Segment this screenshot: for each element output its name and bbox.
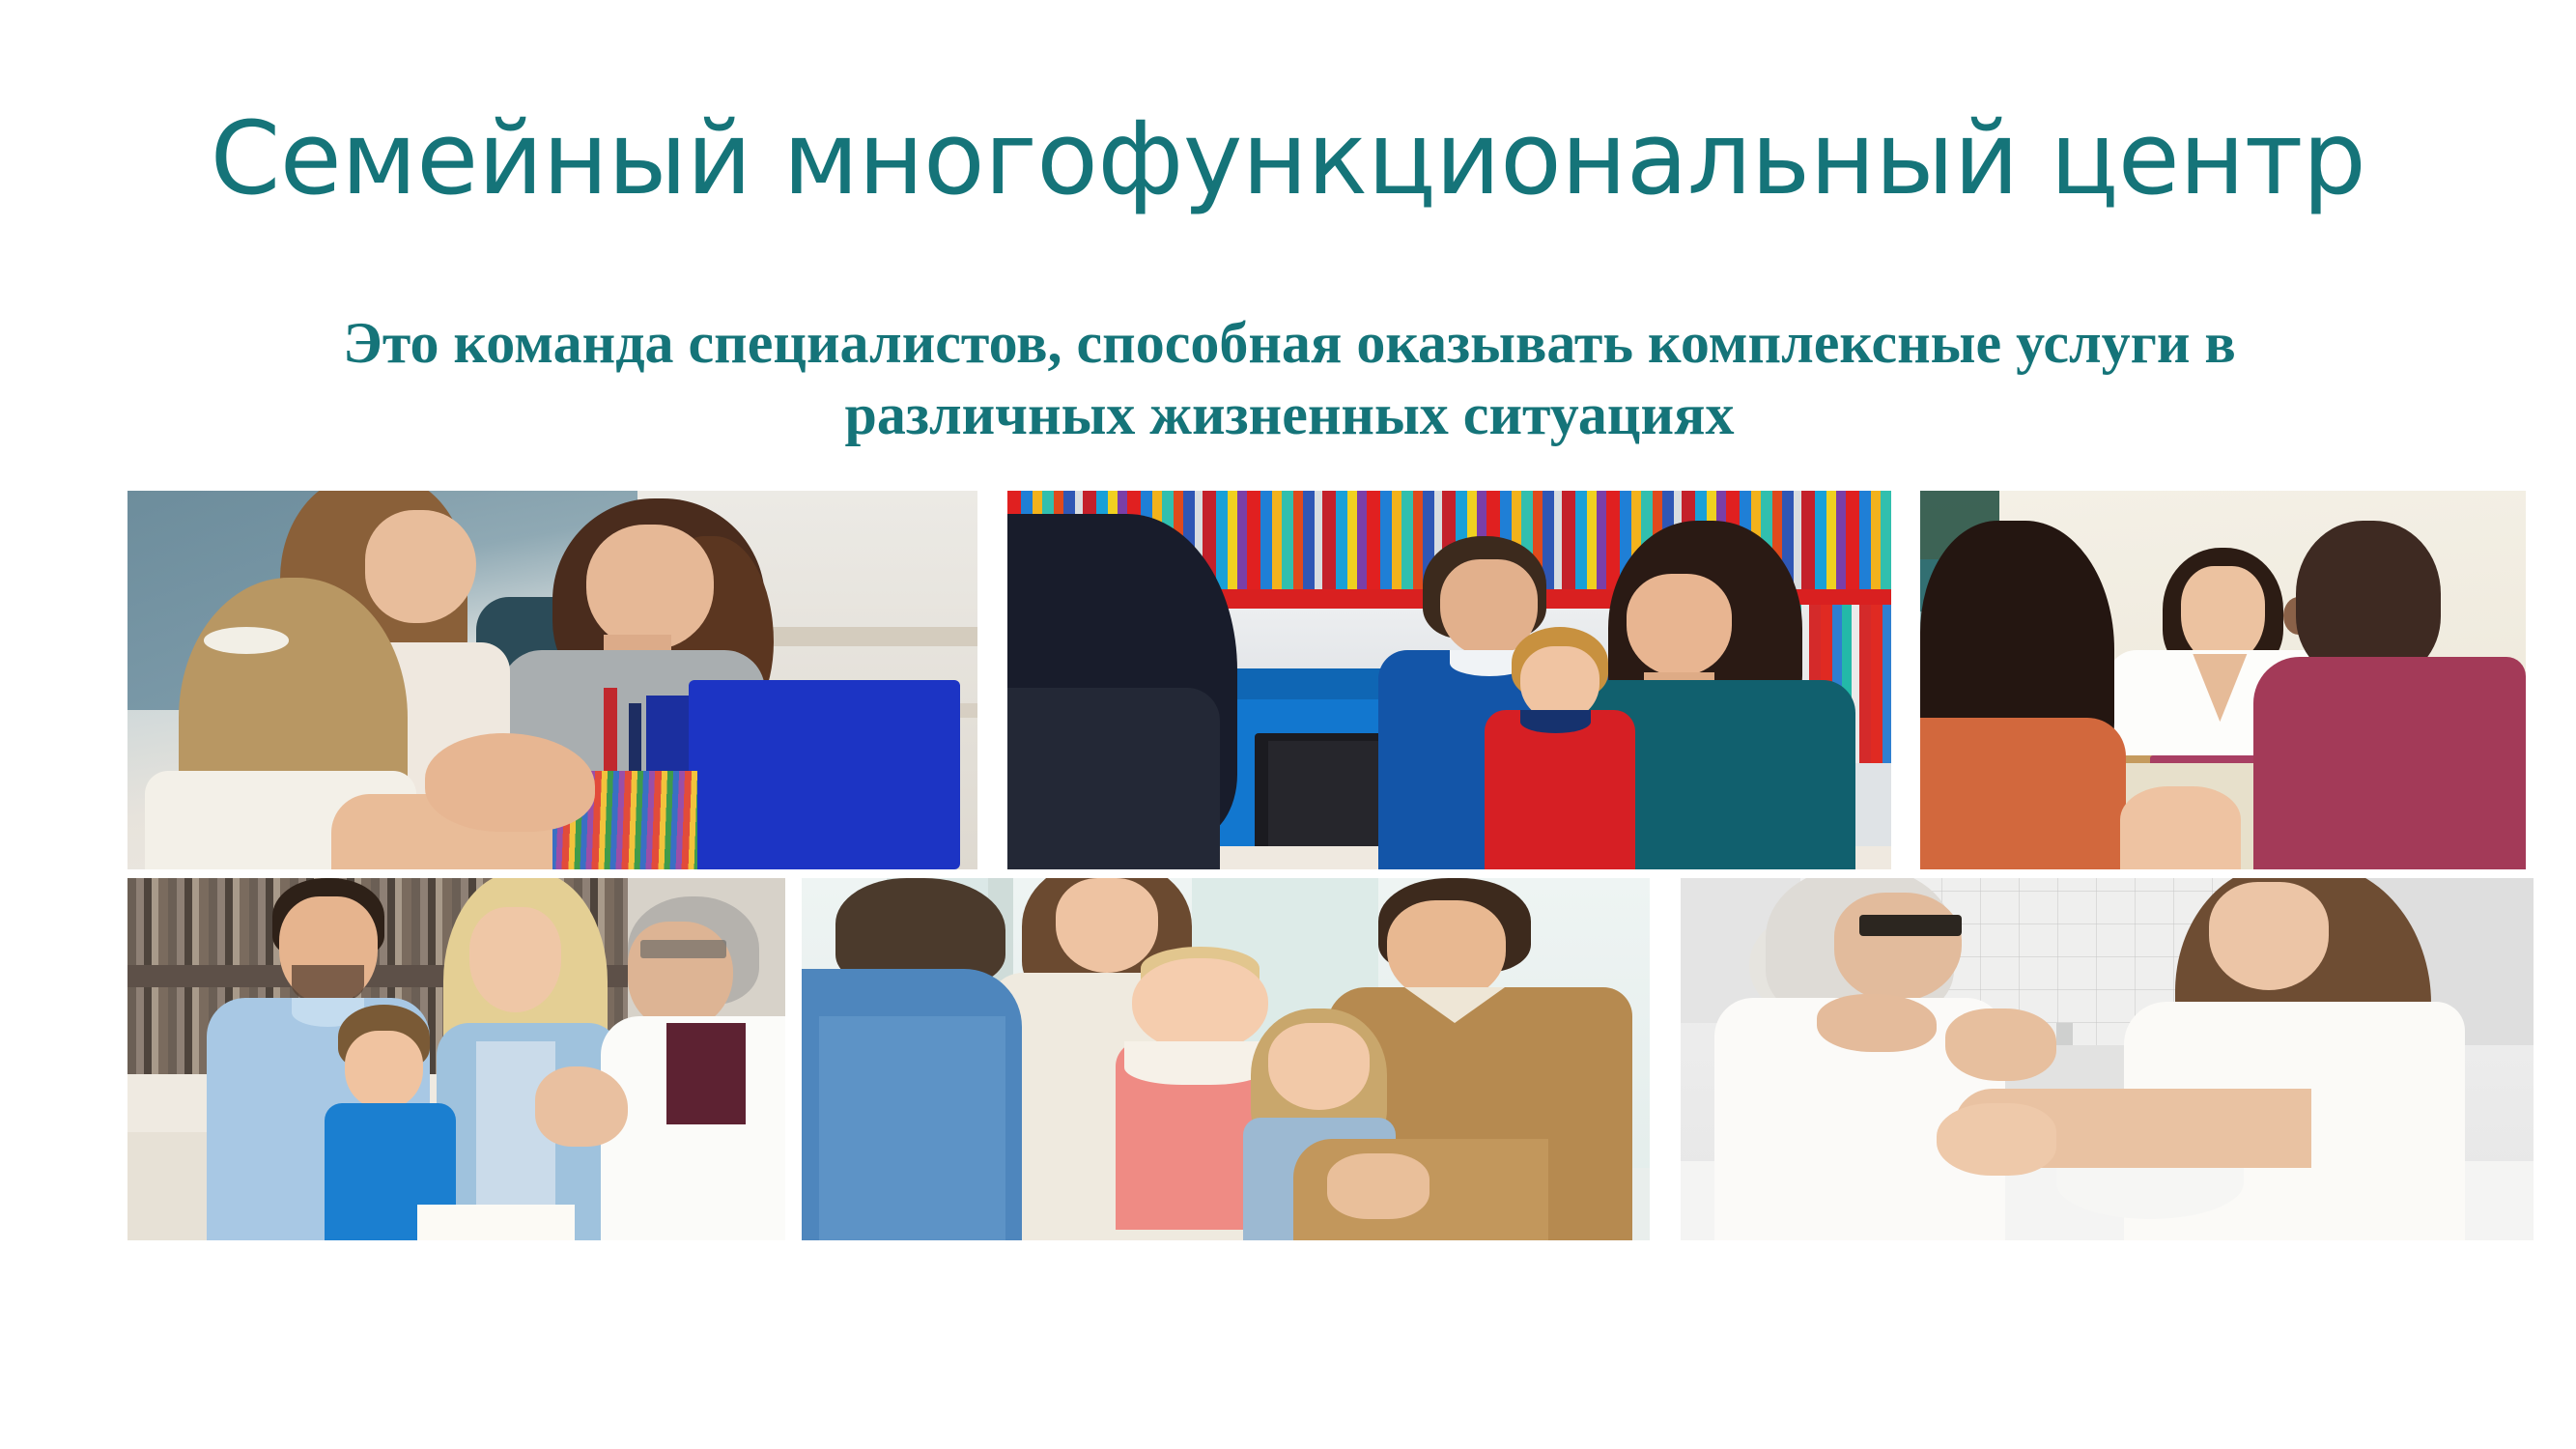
photo-5-scene [802, 878, 1650, 1240]
photo-gallery: Специалист беседует с матерью и девочкой… [0, 0, 2576, 1449]
photo-3-scene [1920, 491, 2526, 869]
photo-4-scene [127, 878, 785, 1240]
photo-6-scene [1681, 878, 2534, 1240]
gallery-photo-6: Пожилая женщина и молодая женщина общают… [1681, 878, 2534, 1240]
gallery-photo-1: Специалист беседует с матерью и девочкой… [127, 491, 977, 869]
gallery-photo-4: Родители с сыном на приёме у специалиста… [127, 878, 785, 1240]
gallery-photo-5: Семья с младенцем и дочерью на встрече с… [802, 878, 1650, 1240]
presentation-slide: Семейный многофункциональный центр Это к… [0, 0, 2576, 1449]
photo-1-scene [127, 491, 977, 869]
gallery-photo-3: Семейная пара на приёме у психолога [1920, 491, 2526, 869]
gallery-photo-2: Семья с ребёнком на консультации у специ… [1007, 491, 1891, 869]
photo-2-scene [1007, 491, 1891, 869]
